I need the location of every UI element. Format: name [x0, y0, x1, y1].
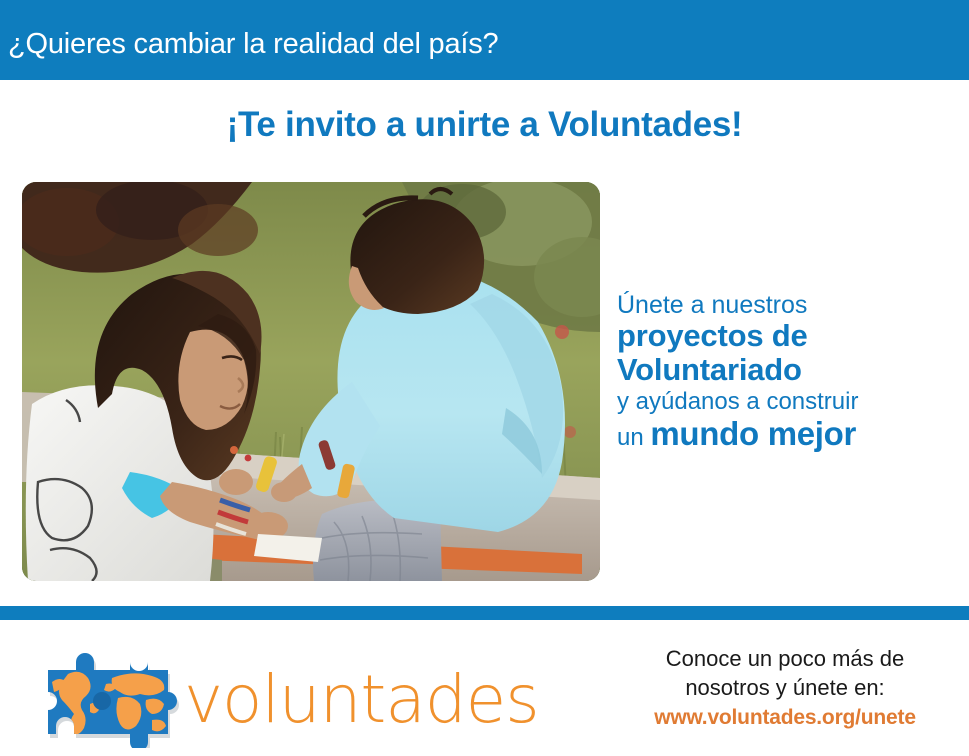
promo-line-2: proyectos de: [617, 320, 957, 352]
promo-line-5-small: un: [617, 424, 650, 451]
contact-line-2: nosotros y únete en:: [615, 673, 955, 702]
promo-line-5: un mundo mejor: [617, 417, 957, 451]
voluntades-logo[interactable]: voluntades: [28, 648, 539, 748]
promo-copy: Únete a nuestros proyectos de Voluntaria…: [617, 292, 957, 452]
website-url-link[interactable]: www.voluntades.org/unete: [615, 706, 955, 730]
section-divider: [0, 606, 969, 620]
top-banner: ¿Quieres cambiar la realidad del país?: [0, 0, 969, 80]
page-title: ¡Te invito a unirte a Voluntades!: [0, 105, 969, 145]
contact-block: Conoce un poco más de nosotros y únete e…: [615, 644, 955, 730]
promo-line-1: Únete a nuestros: [617, 292, 957, 318]
volunteer-photo: [22, 182, 600, 581]
banner-question: ¿Quieres cambiar la realidad del país?: [8, 28, 498, 61]
promo-line-4: y ayúdanos a construir: [617, 390, 957, 415]
volunteer-photo-illustration: [22, 182, 600, 581]
promo-line-5-emphasis: mundo mejor: [650, 415, 856, 452]
logo-wordmark: voluntades: [184, 667, 539, 733]
contact-line-1: Conoce un poco más de: [615, 644, 955, 673]
promo-line-3: Voluntariado: [617, 354, 957, 386]
puzzle-globe-icon: [28, 648, 180, 748]
